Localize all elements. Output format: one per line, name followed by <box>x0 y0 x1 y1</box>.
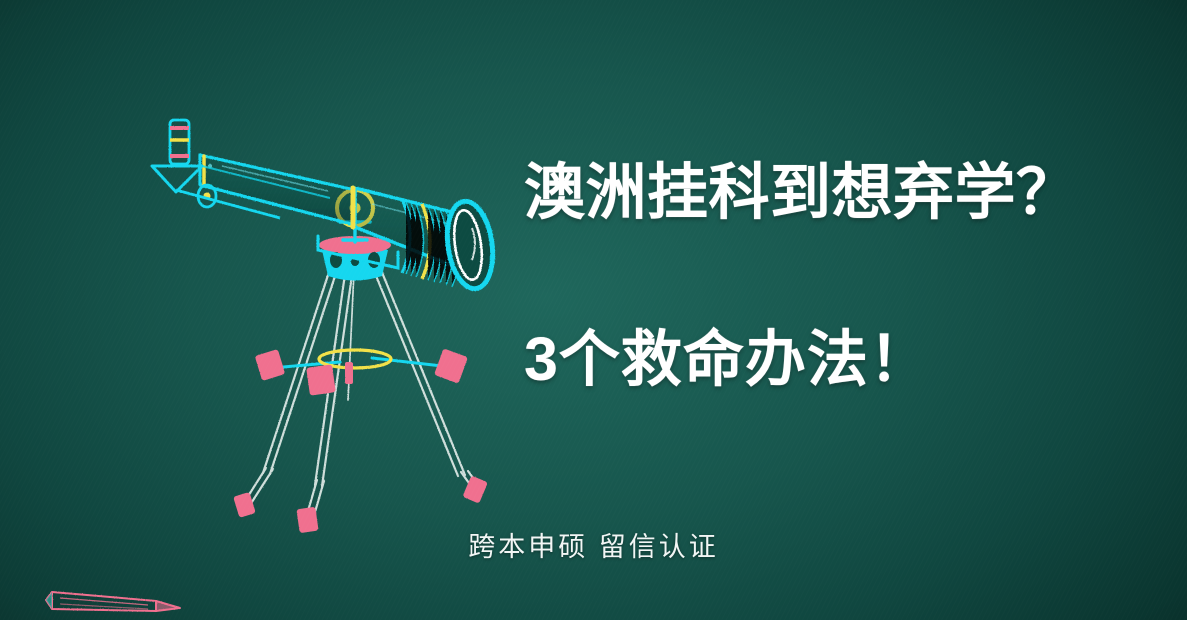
objective-lens <box>442 198 498 291</box>
page-title: 澳洲挂科到想弃学？ <box>524 158 1124 226</box>
headline-block: 澳洲挂科到想弃学？ <box>524 158 1124 226</box>
tripod-legs <box>243 250 481 519</box>
telescope-illustration <box>150 100 570 550</box>
centre-hook <box>345 362 353 384</box>
page-subtitle: 3个救命办法！ <box>524 325 1124 393</box>
leg-clamps <box>255 348 468 395</box>
footer-tagline: 跨本申硕 留信认证 <box>468 525 719 564</box>
footer-block: 跨本申硕 留信认证 <box>0 525 1187 564</box>
pencil-doodle <box>30 578 195 618</box>
subhead-block: 3个救命办法！ <box>524 325 1124 393</box>
poster-canvas: 澳洲挂科到想弃学？ 3个救命办法！ 跨本申硕 留信认证 <box>0 0 1187 620</box>
